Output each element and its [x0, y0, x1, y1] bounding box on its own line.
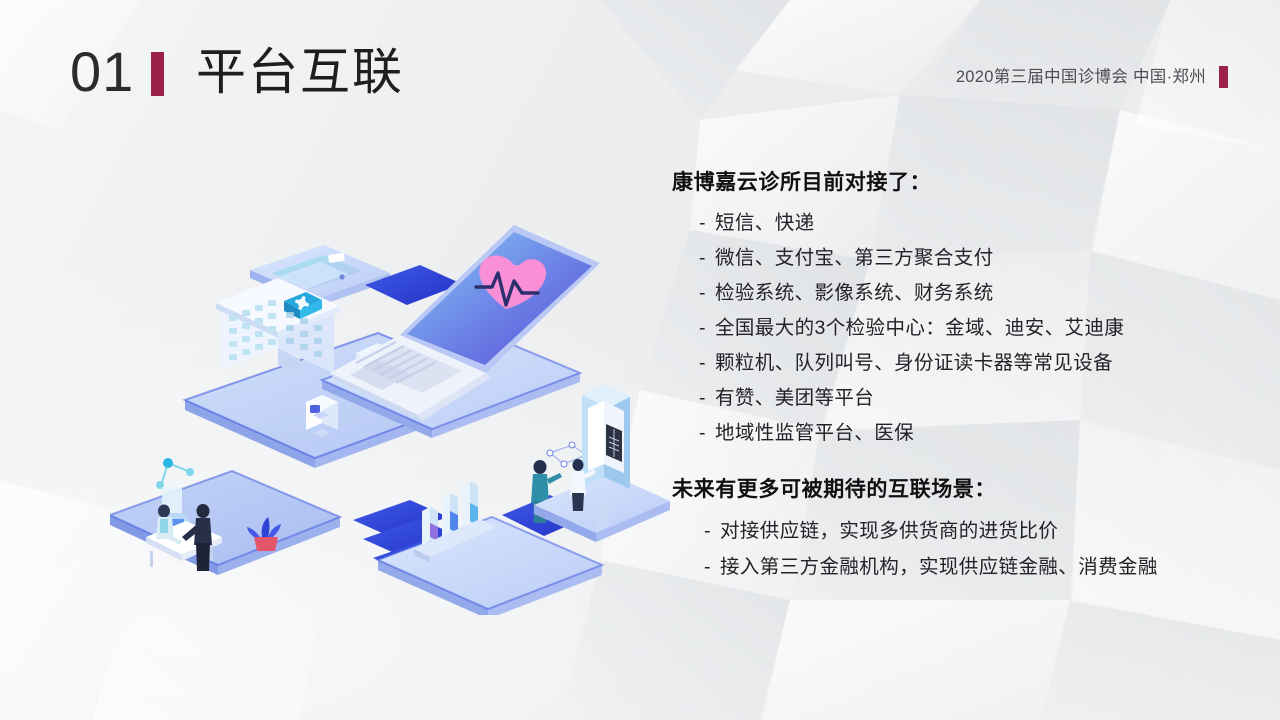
bullet-dash: -: [699, 241, 715, 276]
bullet-dash: -: [699, 206, 715, 241]
section-two-list: - 对接供应链，实现多供货商的进货比价 - 接入第三方金融机构，实现供应链金融、…: [672, 513, 1232, 585]
list-item-label: 对接供应链，实现多供货商的进货比价: [720, 513, 1058, 549]
list-item-label: 微信、支付宝、第三方聚合支付: [715, 241, 994, 276]
slide-header: 01 平台互联 2020第三届中国诊博会 中国·郑州: [0, 0, 1280, 140]
list-item-label: 接入第三方金融机构，实现供应链金融、消费金融: [720, 549, 1158, 585]
list-item: - 微信、支付宝、第三方聚合支付: [699, 241, 1232, 276]
molecule-icon: [156, 458, 194, 489]
list-item: - 检验系统、影像系统、财务系统: [699, 276, 1232, 311]
bullet-dash: -: [704, 513, 720, 549]
page-title: 平台互联: [196, 46, 404, 99]
list-item: - 全国最大的3个检验中心：金域、迪安、艾迪康: [699, 311, 1232, 346]
bullet-dash: -: [699, 276, 715, 311]
list-item: - 地域性监管平台、医保: [699, 416, 1232, 451]
list-item-label: 颗粒机、队列叫号、身份证读卡器等常见设备: [715, 346, 1113, 381]
bullet-dash: -: [699, 381, 715, 416]
conference-label: 2020第三届中国诊博会 中国·郑州: [956, 69, 1206, 86]
section-one-list: - 短信、快递 - 微信、支付宝、第三方聚合支付 - 检验系统、影像系统、财务系…: [672, 206, 1232, 451]
list-item-label: 地域性监管平台、医保: [715, 416, 914, 451]
isometric-medical-platform-illustration: [110, 215, 670, 615]
bullet-dash: -: [699, 346, 715, 381]
section-two-title: 未来有更多可被期待的互联场景：: [672, 477, 1232, 502]
xray-display-kiosk: [534, 385, 670, 542]
list-item: - 颗粒机、队列叫号、身份证读卡器等常见设备: [699, 346, 1232, 381]
bullet-dash: -: [699, 416, 715, 451]
consultation-platform: [110, 458, 340, 575]
title-accent-bar: [151, 52, 164, 96]
list-item-label: 全国最大的3个检验中心：金域、迪安、艾迪康: [715, 311, 1124, 346]
list-item-label: 有赞、美团等平台: [715, 381, 874, 416]
conference-branding: 2020第三届中国诊博会 中国·郑州: [956, 66, 1228, 88]
section-two: 未来有更多可被期待的互联场景： - 对接供应链，实现多供货商的进货比价 - 接入…: [672, 477, 1232, 585]
list-item: - 对接供应链，实现多供货商的进货比价: [704, 513, 1232, 549]
bullet-dash: -: [704, 549, 720, 585]
list-item-label: 检验系统、影像系统、财务系统: [715, 276, 994, 311]
section-one: 康博嘉云诊所目前对接了： - 短信、快递 - 微信、支付宝、第三方聚合支付 - …: [672, 170, 1232, 451]
list-item-label: 短信、快递: [715, 206, 815, 241]
list-item: - 接入第三方金融机构，实现供应链金融、消费金融: [704, 549, 1232, 585]
list-item: - 有赞、美团等平台: [699, 381, 1232, 416]
laptop-with-heartbeat-screen: [322, 225, 600, 438]
section-number: 01: [70, 44, 134, 100]
bullet-dash: -: [699, 311, 715, 346]
content-text-block: 康博嘉云诊所目前对接了： - 短信、快递 - 微信、支付宝、第三方聚合支付 - …: [672, 170, 1232, 585]
branding-accent-bar: [1219, 66, 1228, 88]
list-item: - 短信、快递: [699, 206, 1232, 241]
slide-root: 01 平台互联 2020第三届中国诊博会 中国·郑州: [0, 0, 1280, 720]
section-one-title: 康博嘉云诊所目前对接了：: [672, 170, 1232, 195]
